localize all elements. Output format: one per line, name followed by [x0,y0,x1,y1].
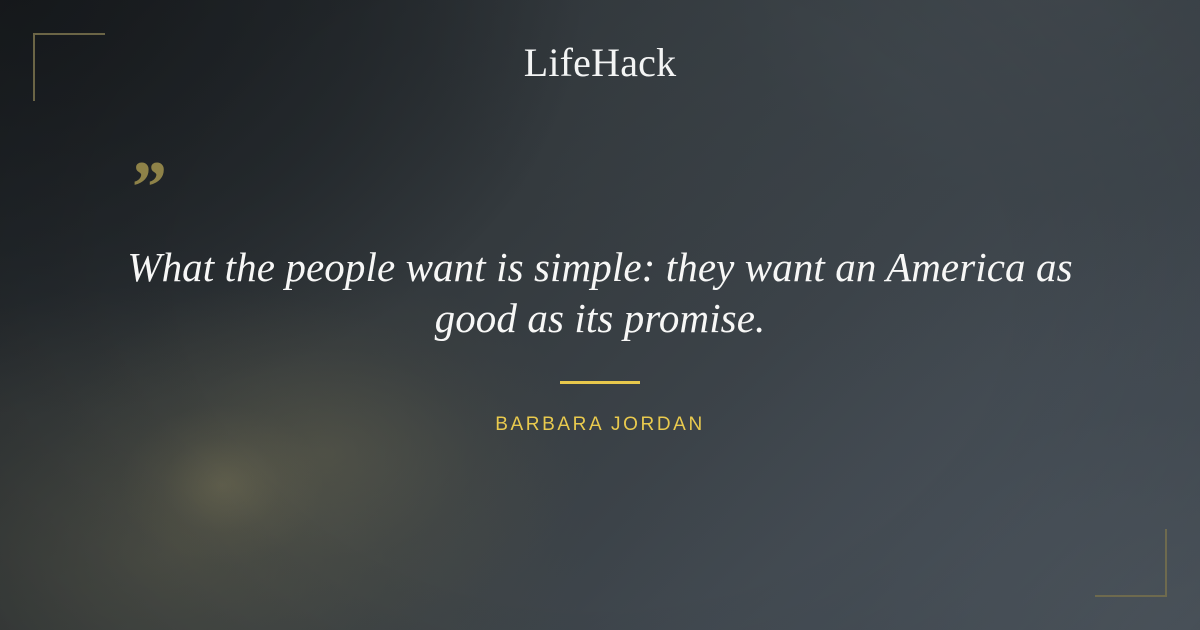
quote-text: What the people want is simple: they wan… [100,242,1100,344]
author-divider [560,381,640,384]
quote-author: BARBARA JORDAN [0,413,1200,437]
quotation-mark-icon: ” [128,160,1100,216]
quote-card: LifeHack ” What the people want is simpl… [0,0,1200,630]
quote-content-block: ” What the people want is simple: they w… [100,160,1100,344]
brand-logo: LifeHack [0,41,1200,85]
corner-bracket-bottom-right-icon [1095,529,1167,597]
